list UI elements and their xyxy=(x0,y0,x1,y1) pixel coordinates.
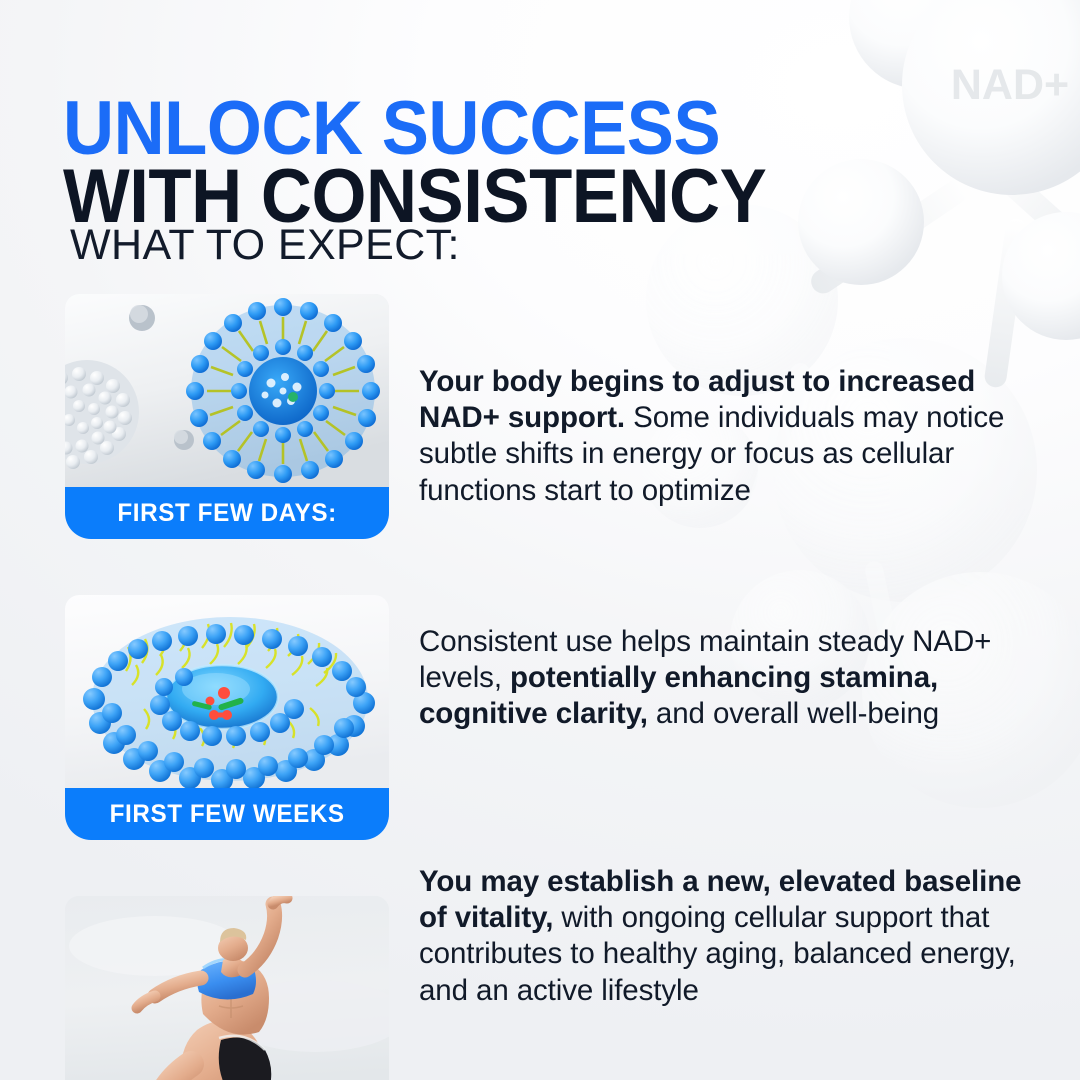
timeline-card: FIRST FEW WEEKS xyxy=(65,595,389,840)
card-description: Your body begins to adjust to increased … xyxy=(419,364,1054,510)
timeline-card: FIRST FEW DAYS: xyxy=(65,294,389,539)
timeline-card: FIRST FEW MONTHS xyxy=(65,896,389,1080)
athlete-photo-illustration-icon xyxy=(65,896,389,1080)
timeline-card-list: FIRST FEW DAYS: xyxy=(65,294,389,1080)
card-image-athlete-jumping xyxy=(65,896,389,1080)
liposome-cutaway-illustration-icon xyxy=(65,595,389,788)
headline-line-1: UNLOCK SUCCESS xyxy=(63,95,863,163)
card-image-liposome-nanoparticle xyxy=(65,294,389,487)
page-title: UNLOCK SUCCESS WITH CONSISTENCY xyxy=(63,95,863,232)
card-description: Consistent use helps maintain steady NAD… xyxy=(419,624,1054,733)
liposome-illustration-icon xyxy=(65,294,389,487)
card-badge-label: FIRST FEW WEEKS xyxy=(109,800,344,829)
infographic-canvas: NAD+ UNLOCK SUCCESS WITH CONSISTENCY WHA… xyxy=(0,0,1080,1080)
card-description: You may establish a new, elevated baseli… xyxy=(419,864,1054,1010)
card-badge-first-few-days[interactable]: FIRST FEW DAYS: xyxy=(65,487,389,539)
subheading: WHAT TO EXPECT: xyxy=(70,221,460,270)
card-badge-label: FIRST FEW DAYS: xyxy=(117,499,336,528)
nad-plus-watermark-text: NAD+ xyxy=(951,61,1069,109)
card-badge-first-few-weeks[interactable]: FIRST FEW WEEKS xyxy=(65,788,389,840)
card-image-liposome-cross-section xyxy=(65,595,389,788)
